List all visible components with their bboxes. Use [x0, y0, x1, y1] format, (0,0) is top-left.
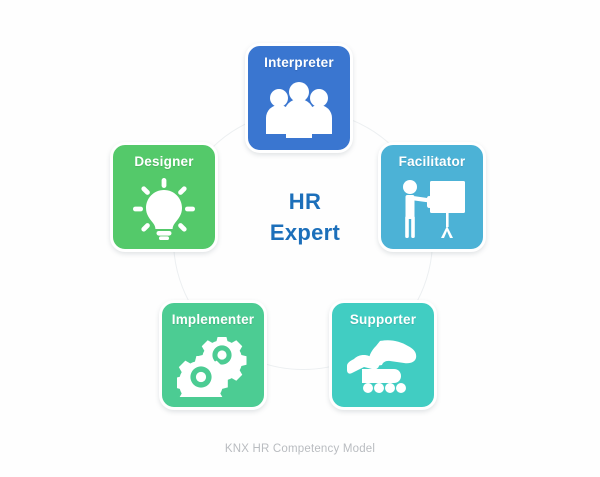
gears-icon: [162, 327, 264, 407]
diagram-caption: KNX HR Competency Model: [0, 443, 600, 455]
center-label-line2: Expert: [235, 217, 375, 248]
node-implementer-label: Implementer: [172, 312, 254, 327]
center-label-line1: HR: [235, 186, 375, 217]
lightbulb-icon: [113, 169, 215, 249]
node-designer-label: Designer: [134, 154, 193, 169]
node-interpreter[interactable]: Interpreter: [245, 43, 353, 153]
node-designer[interactable]: Designer: [110, 142, 218, 252]
node-supporter-label: Supporter: [350, 312, 416, 327]
hr-competency-diagram: HR Expert Interpreter Facilitator: [0, 0, 600, 477]
node-facilitator[interactable]: Facilitator: [378, 142, 486, 252]
presenter-whiteboard-icon: [381, 169, 483, 249]
node-supporter[interactable]: Supporter: [329, 300, 437, 410]
group-of-people-icon: [248, 70, 350, 150]
node-implementer[interactable]: Implementer: [159, 300, 267, 410]
node-facilitator-label: Facilitator: [399, 154, 466, 169]
center-label: HR Expert: [235, 186, 375, 248]
node-interpreter-label: Interpreter: [264, 55, 334, 70]
helping-hand-icon: [332, 327, 434, 407]
